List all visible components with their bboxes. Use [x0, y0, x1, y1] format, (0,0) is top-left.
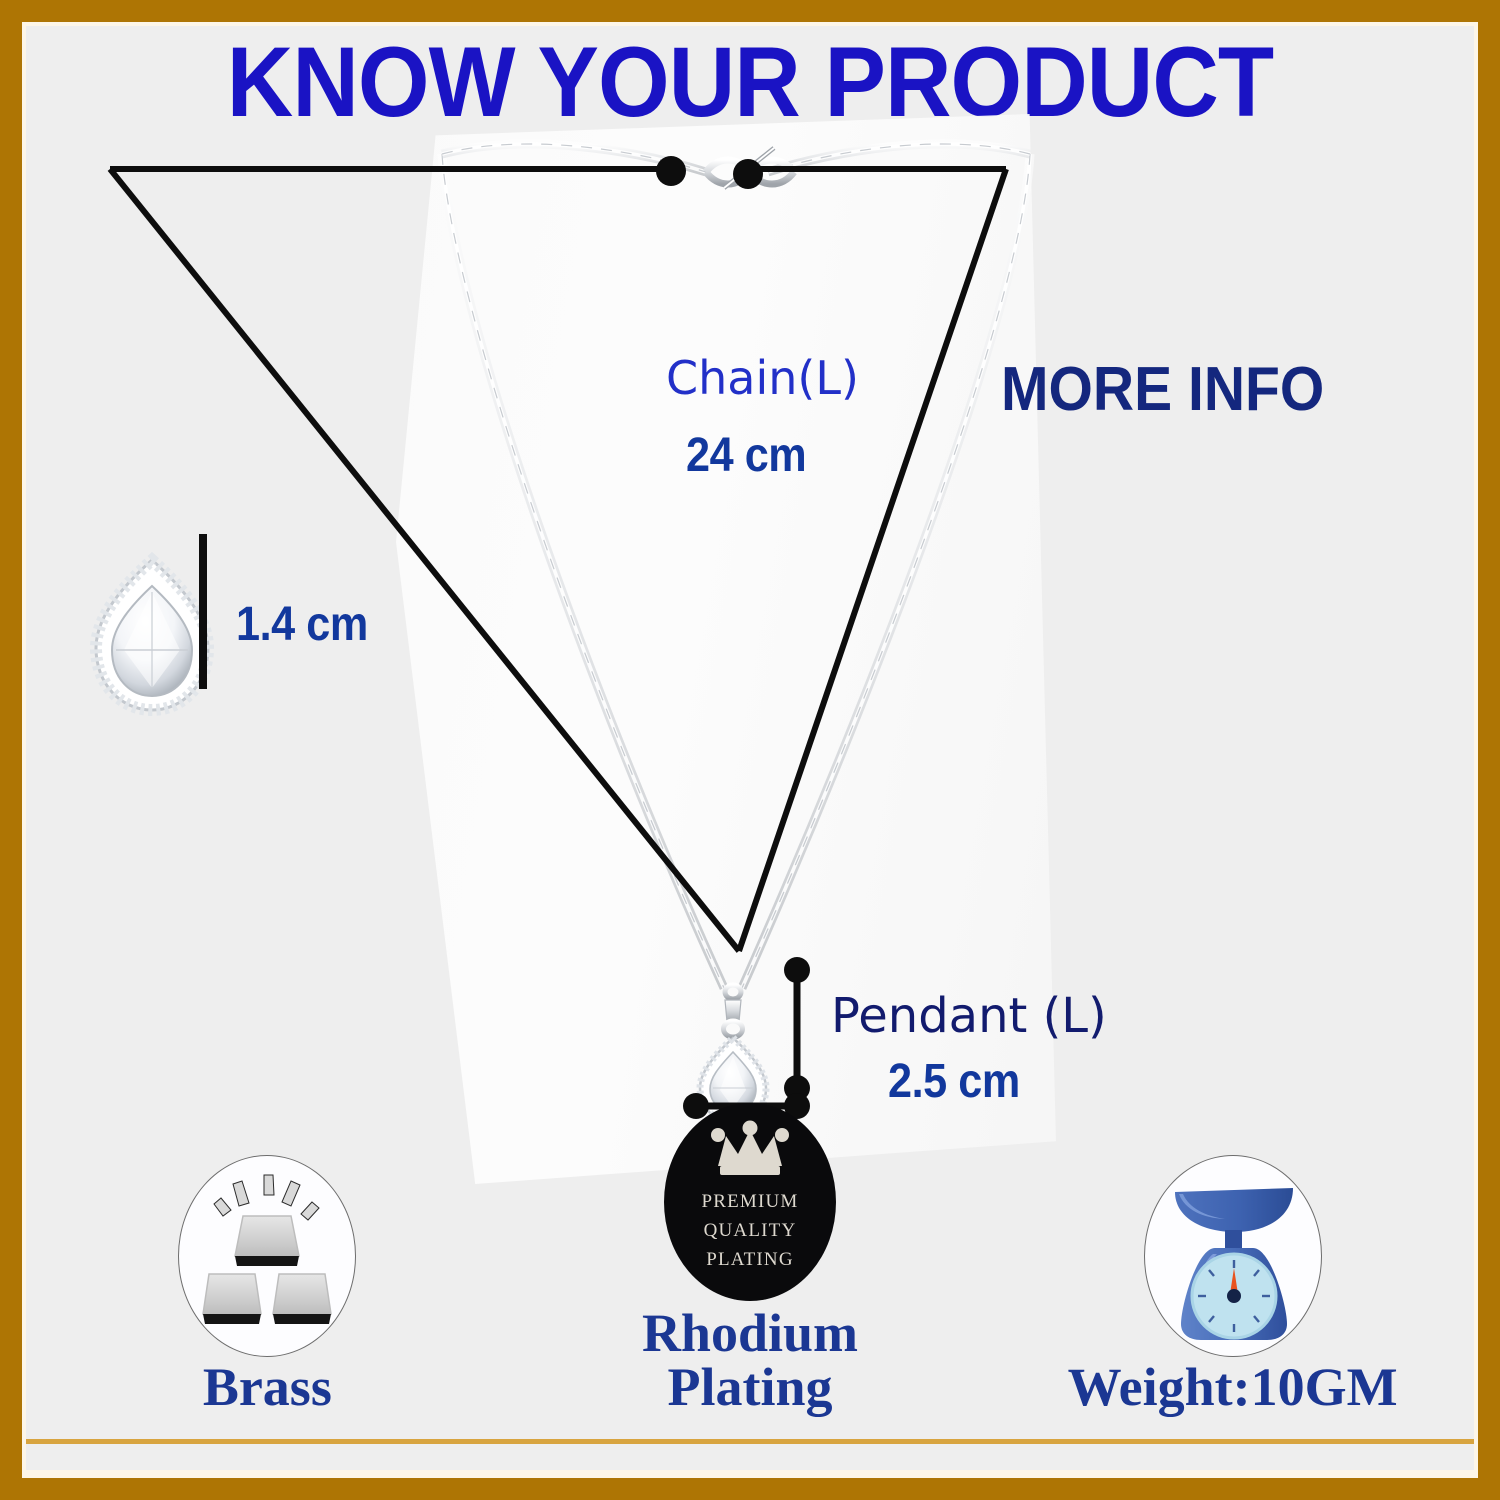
pendant-length-value: 2.5 cm	[888, 1054, 1020, 1109]
product-infographic-poster: KNOW YOUR PRODUCT	[0, 0, 1500, 1500]
necklace-chain-image	[406, 126, 1066, 1136]
feature-weight: Weight:10GM	[1068, 1156, 1398, 1414]
chain-length-value: 24 cm	[686, 428, 806, 483]
feature-row: Brass	[26, 1114, 1474, 1414]
page-title: KNOW YOUR PRODUCT	[77, 30, 1424, 134]
weighing-scale-icon	[1143, 1156, 1323, 1356]
badge-text-block: PREMIUM QUALITY PLATING	[660, 1188, 840, 1275]
bottom-gold-hairline	[26, 1439, 1474, 1444]
feature-material: Brass	[102, 1156, 432, 1414]
more-info-heading: MORE INFO	[1001, 354, 1324, 425]
chain-length-label: Chain(L)	[666, 351, 859, 405]
badge-line-2: QUALITY	[660, 1217, 840, 1246]
metal-bars-icon	[177, 1156, 357, 1356]
badge-line-1: PREMIUM	[660, 1188, 840, 1217]
premium-quality-badge-icon: PREMIUM QUALITY PLATING	[660, 1102, 840, 1302]
feature-plating: PREMIUM QUALITY PLATING Rhodium Plating	[585, 1102, 915, 1414]
feature-plating-label: Rhodium Plating	[585, 1306, 915, 1414]
infographic-canvas: KNOW YOUR PRODUCT	[26, 26, 1474, 1470]
stud-earring-image	[86, 546, 226, 726]
badge-line-3: PLATING	[660, 1246, 840, 1275]
feature-material-label: Brass	[102, 1360, 432, 1414]
feature-weight-label: Weight:10GM	[1068, 1360, 1398, 1414]
pendant-length-label: Pendant (L)	[831, 988, 1107, 1044]
stud-height-value: 1.4 cm	[236, 597, 368, 652]
